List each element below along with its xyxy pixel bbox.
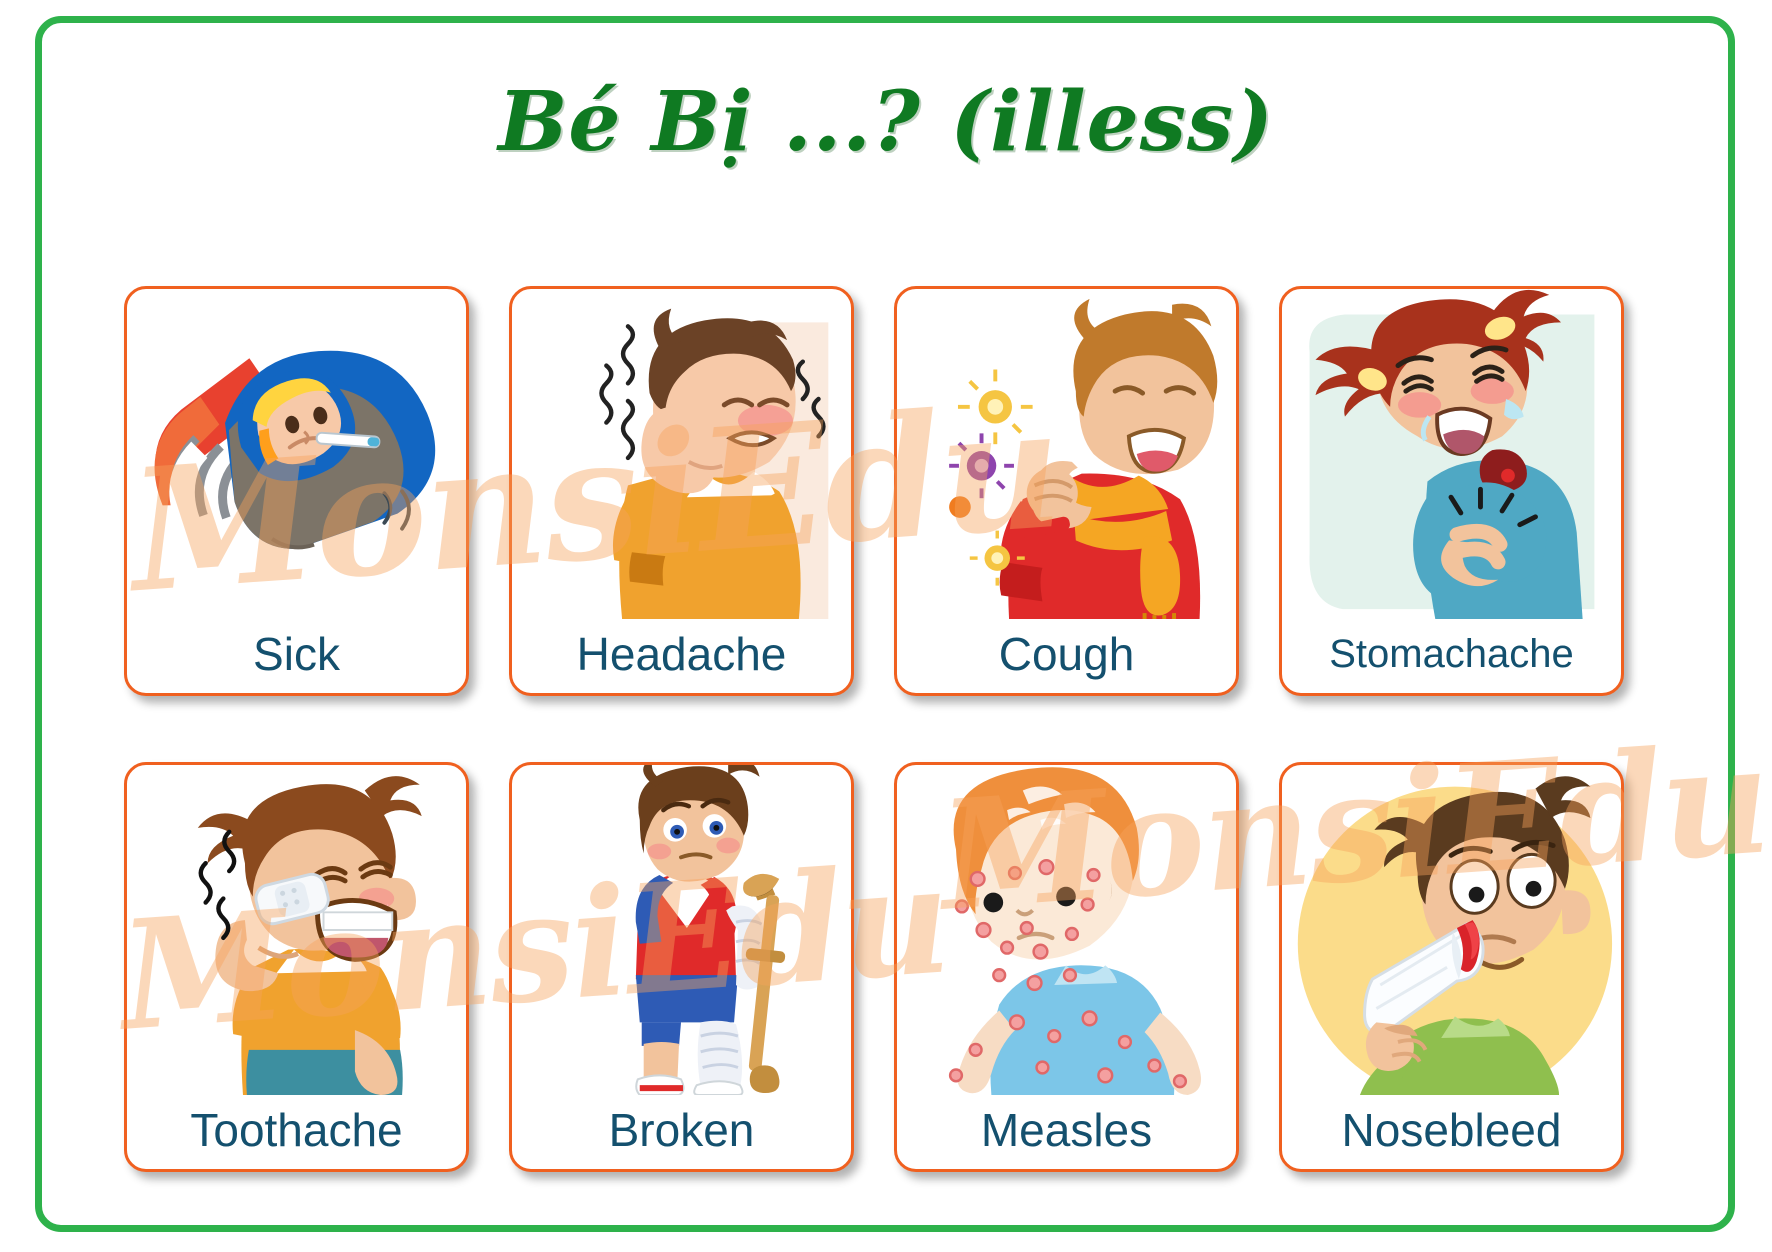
boy-with-tissue-nosebleed-icon (1282, 765, 1621, 1095)
nosebleed-illustration (1282, 765, 1621, 1095)
flashcard-sick[interactable]: Sick (124, 286, 469, 696)
flashcard-grid: Sick (124, 286, 1664, 1172)
flashcard-stomachache[interactable]: Stomachache (1279, 286, 1624, 696)
flashcard-label: Sick (127, 619, 466, 693)
girl-crying-holding-belly-icon (1282, 289, 1621, 619)
page-title: Bé Bị ...? (illess) (0, 74, 1772, 170)
flashcard-label: Headache (512, 619, 851, 693)
sick-illustration (127, 289, 466, 619)
measles-illustration (897, 765, 1236, 1095)
flashcard-label: Nosebleed (1282, 1095, 1621, 1169)
flashcard-label: Stomachache (1282, 619, 1621, 693)
broken-illustration (512, 765, 851, 1095)
flashcard-cough[interactable]: Cough (894, 286, 1239, 696)
flashcard-measles[interactable]: Measles (894, 762, 1239, 1172)
child-in-bed-with-thermometer-icon (127, 289, 466, 619)
boy-coughing-with-scarf-icon (897, 289, 1236, 619)
flashcard-toothache[interactable]: Toothache (124, 762, 469, 1172)
boy-holding-head-in-pain-icon (512, 289, 851, 619)
flashcard-nosebleed[interactable]: Nosebleed (1279, 762, 1624, 1172)
flashcard-headache[interactable]: Headache (509, 286, 854, 696)
stomachache-illustration (1282, 289, 1621, 619)
flashcard-label: Broken (512, 1095, 851, 1169)
headache-illustration (512, 289, 851, 619)
flashcard-label: Toothache (127, 1095, 466, 1169)
toothache-illustration (127, 765, 466, 1095)
cough-illustration (897, 289, 1236, 619)
flashcard-label: Cough (897, 619, 1236, 693)
flashcard-broken[interactable]: Broken (509, 762, 854, 1172)
boy-with-crutch-and-cast-icon (512, 765, 851, 1095)
boy-with-bandage-on-cheek-icon (127, 765, 466, 1095)
flashcard-label: Measles (897, 1095, 1236, 1169)
boy-with-red-spots-rash-icon (897, 765, 1236, 1095)
